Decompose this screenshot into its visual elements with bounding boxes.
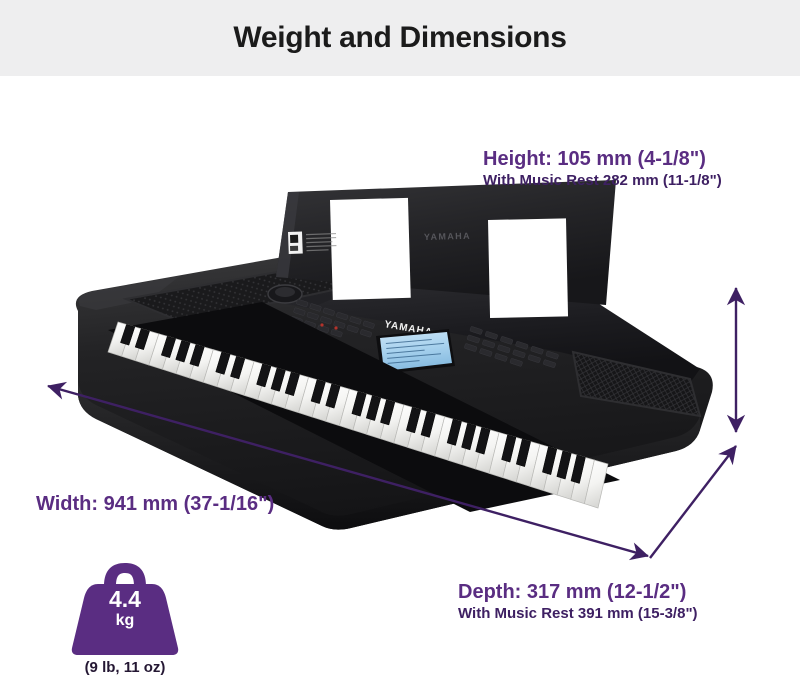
depth-sub-label: With Music Rest 391 mm (15-3/8") xyxy=(458,604,698,623)
width-annotation: Width: 941 mm (37-1/16") xyxy=(36,492,274,516)
music-rest-window-right xyxy=(488,218,568,318)
depth-label: Depth: 317 mm (12-1/2") xyxy=(458,580,698,604)
height-label: Height: 105 mm (4-1/8") xyxy=(483,147,722,171)
weight-badge: 4.4 kg (9 lb, 11 oz) xyxy=(60,560,190,690)
height-annotation: Height: 105 mm (4-1/8") With Music Rest … xyxy=(483,147,722,190)
music-rest-window-left xyxy=(330,198,411,300)
width-label: Width: 941 mm (37-1/16") xyxy=(36,492,274,516)
weight-imperial-value: (9 lb, 11 oz) xyxy=(46,659,204,676)
depth-annotation: Depth: 317 mm (12-1/2") With Music Rest … xyxy=(458,580,698,623)
music-rest-brand-text: YAMAHA xyxy=(424,231,471,242)
weight-block-icon xyxy=(68,560,182,656)
height-sub-label: With Music Rest 282 mm (11-1/8") xyxy=(483,171,722,190)
